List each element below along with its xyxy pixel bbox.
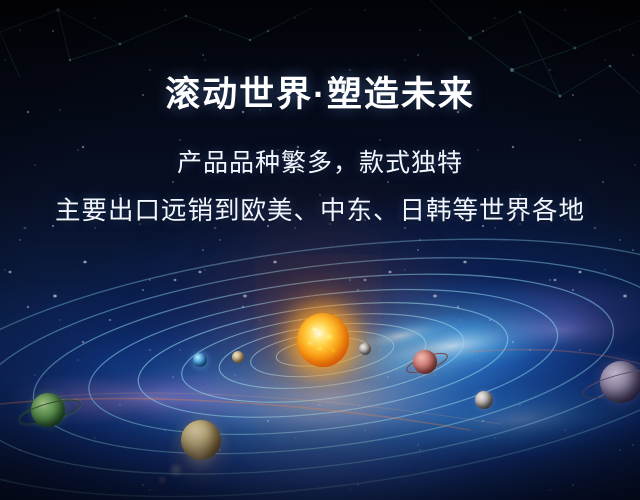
page-title: 滚动世界·塑造未来 [0,0,640,115]
subtitle-line-2: 主要出口远销到欧美、中东、日韩等世界各地 [0,179,640,227]
space-banner: 滚动世界·塑造未来 产品品种繁多，款式独特 主要出口远销到欧美、中东、日韩等世界… [0,0,640,500]
banner-copy: 滚动世界·塑造未来 产品品种繁多，款式独特 主要出口远销到欧美、中东、日韩等世界… [0,0,640,227]
subtitle-line-1: 产品品种繁多，款式独特 [0,115,640,179]
